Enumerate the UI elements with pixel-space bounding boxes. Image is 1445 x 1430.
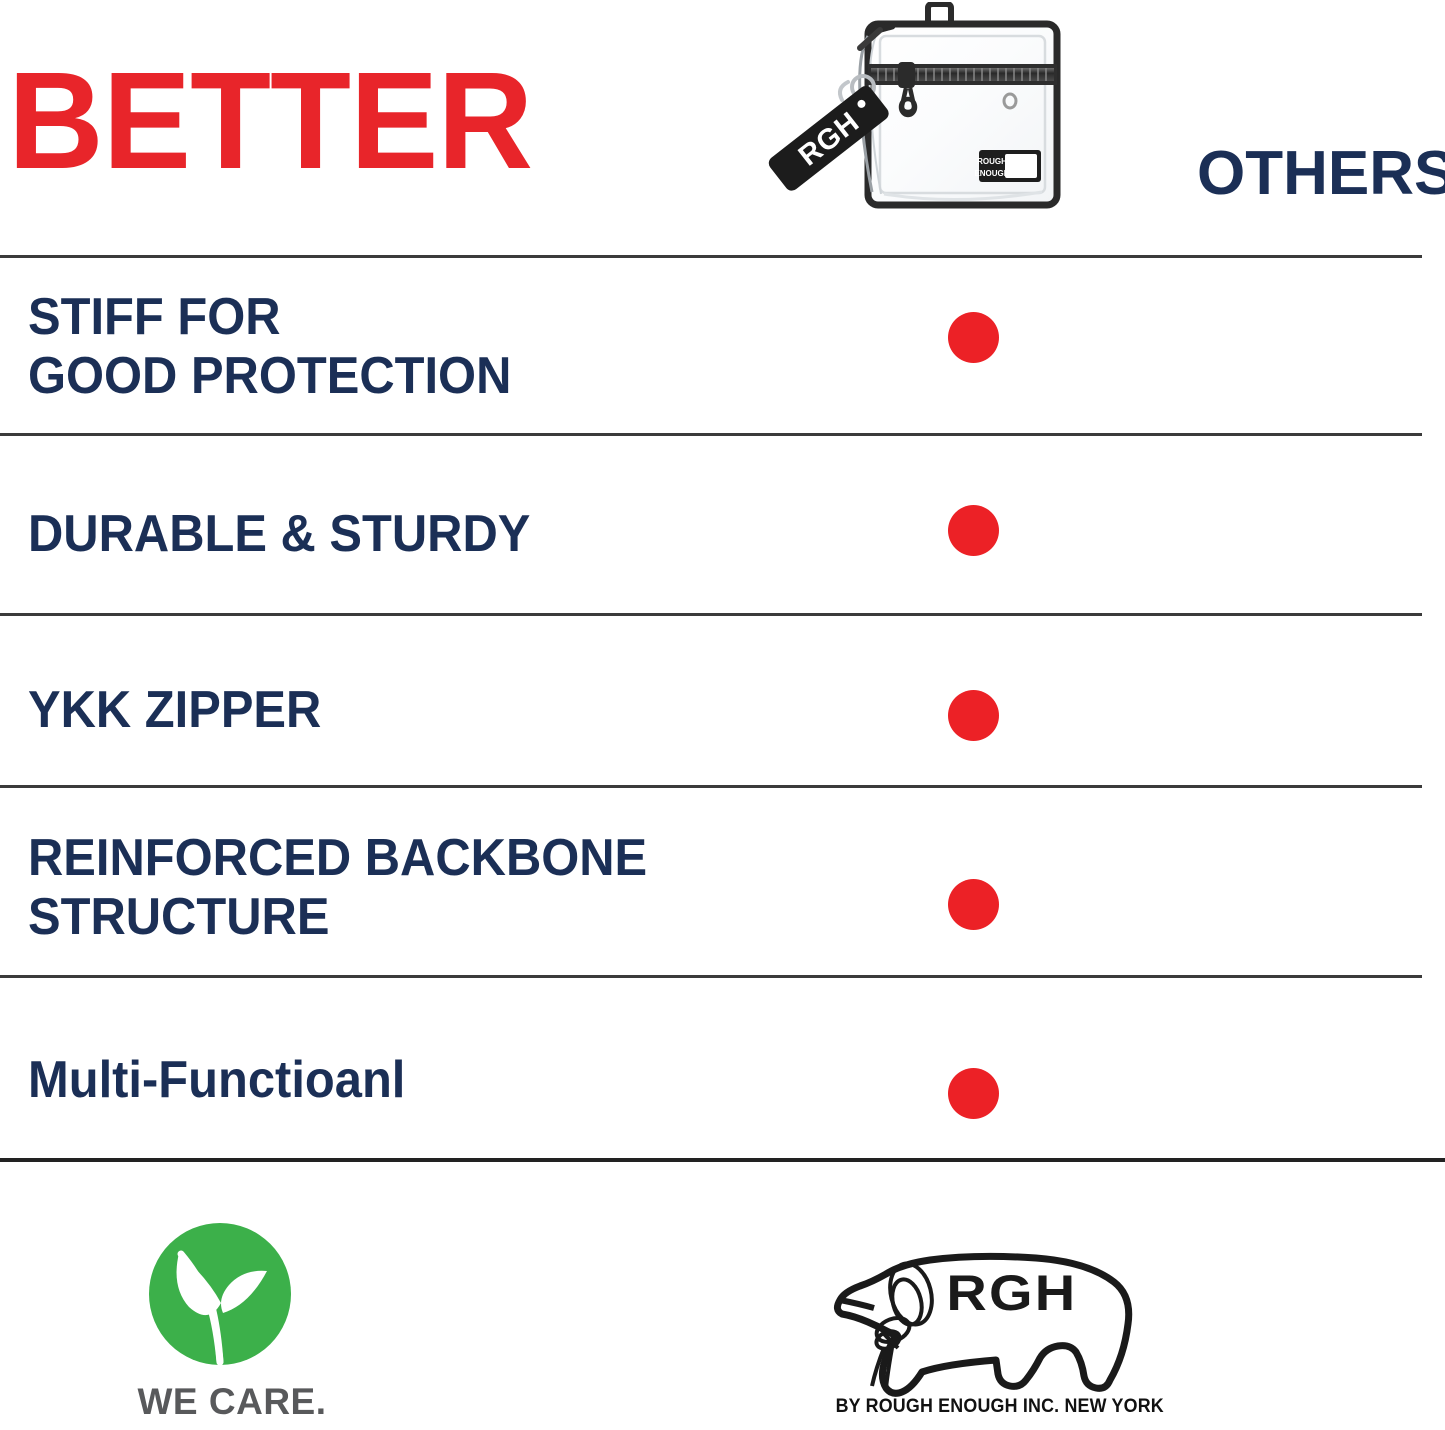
bear-outline-icon: RGH [826,1252,1146,1400]
better-column-title: BETTER [8,52,532,190]
comparison-infographic: BETTER [0,0,1445,1430]
feature-label-stiff-for-good-protection: STIFF FOR GOOD PROTECTION [28,288,511,407]
brand-tagline: BY ROUGH ENOUGH INC. NEW YORK [836,1396,1137,1418]
brand-logo: RGH BY ROUGH ENOUGH INC. NEW YORK [826,1252,1146,1430]
product-image-clear-bag: RGH ROUGH ENOUGH [752,2,1072,238]
svg-text:RGH: RGH [946,1266,1077,1322]
row-divider [0,255,1422,258]
row-divider [0,975,1422,978]
better-mark-row-3 [948,690,999,741]
feature-label-ykk-zipper: YKK ZIPPER [28,681,321,740]
better-mark-row-2 [948,505,999,556]
others-column-title: OTHERS [1197,143,1445,205]
feature-label-multi-functioanl: Multi-Functioanl [28,1051,405,1110]
svg-text:ROUGH: ROUGH [977,157,1007,166]
header: BETTER [0,0,1445,255]
eco-badge-label: WE CARE. [117,1381,347,1423]
svg-text:ENOUGH: ENOUGH [974,169,1009,178]
row-divider [0,613,1422,616]
eco-badge: WE CARE. [117,1221,347,1426]
row-divider [0,785,1422,788]
feature-label-durable-and-sturdy: DURABLE & STURDY [28,505,530,564]
better-mark-row-4 [948,879,999,930]
better-mark-row-1 [948,312,999,363]
section-divider [0,1158,1445,1162]
feature-label-reinforced-backbone-structure: REINFORCED BACKBONE STRUCTURE [28,829,647,948]
row-divider [0,433,1422,436]
leaf-sprout-icon [147,1221,293,1367]
better-mark-row-5 [948,1068,999,1119]
